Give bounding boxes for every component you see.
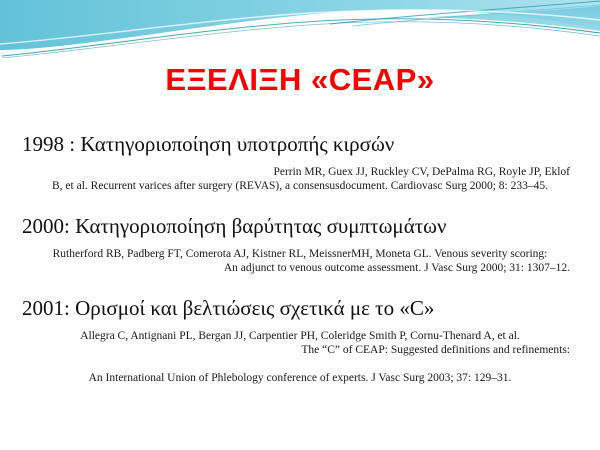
presentation-slide: ΕΞΕΛΙΞΗ «CEAP» 1998 : Κατηγοριοποίηση υπ… [0, 0, 600, 450]
citation-line: Perrin MR, Guex JJ, Ruckley CV, DePalma … [0, 165, 600, 179]
entry-2000: 2000: Κατηγοριοποίηση βαρύτητας συμπτωμά… [0, 213, 600, 275]
entry-year: 2001: [22, 296, 70, 320]
wave-graphic-icon [0, 0, 600, 58]
citation-line: Rutherford RB, Padberg FT, Comerota AJ, … [0, 247, 600, 261]
citation-line: Allegra C, Antignani PL, Bergan JJ, Carp… [0, 329, 600, 343]
entry-heading: 2001: Ορισμοί και βελτιώσεις σχετικά με … [0, 295, 600, 321]
entry-2001: 2001: Ορισμοί και βελτιώσεις σχετικά με … [0, 295, 600, 385]
entry-heading-text: Κατηγοριοποίηση υποτροπής κιρσών [80, 132, 394, 156]
slide-body: 1998 : Κατηγοριοποίηση υποτροπής κιρσών … [0, 131, 600, 385]
entry-heading-text: Κατηγοριοποίηση βαρύτητας συμπτωμάτων [75, 214, 446, 238]
entry-heading-text: Ορισμοί και βελτιώσεις σχετικά με το «C» [75, 296, 434, 320]
citation-line: The “C” of CEAP: Suggested definitions a… [0, 343, 600, 357]
citation-line: An International Union of Phlebology con… [0, 371, 600, 385]
header-wave-decoration [0, 0, 600, 58]
citation-line: B, et al. Recurrent varices after surger… [0, 179, 600, 193]
entry-year: 2000: [22, 214, 70, 238]
citation-line: An adjunct to venous outcome assessment.… [0, 261, 600, 275]
slide-title: ΕΞΕΛΙΞΗ «CEAP» [0, 60, 600, 100]
entry-1998: 1998 : Κατηγοριοποίηση υποτροπής κιρσών … [0, 131, 600, 193]
entry-year: 1998 : [22, 132, 75, 156]
entry-heading: 1998 : Κατηγοριοποίηση υποτροπής κιρσών [0, 131, 600, 157]
entry-heading: 2000: Κατηγοριοποίηση βαρύτητας συμπτωμά… [0, 213, 600, 239]
